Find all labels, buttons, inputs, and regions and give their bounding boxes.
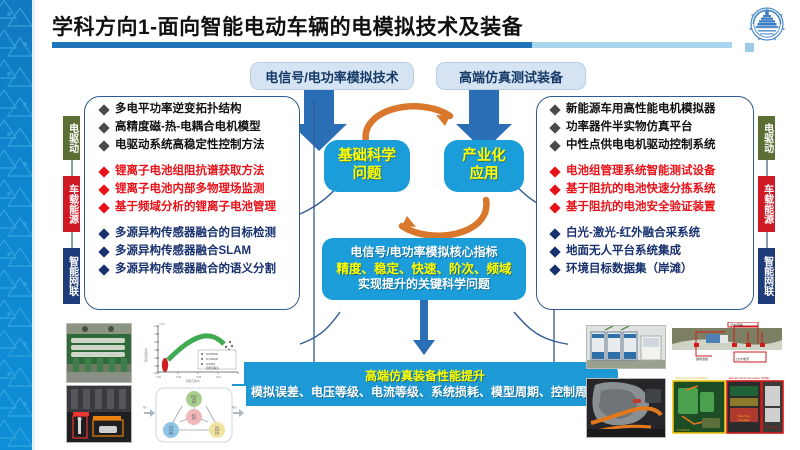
list-item[interactable]: 锂离子电池组阻抗谱获取方法: [100, 163, 276, 180]
svg-text:-0.25: -0.25: [153, 371, 159, 375]
svg-text:阻抗虚部(Ω): 阻抗虚部(Ω): [144, 348, 148, 362]
svg-text:0.00: 0.00: [156, 375, 162, 379]
svg-text:0.04: 0.04: [176, 375, 182, 379]
diamond-bullet-icon: [549, 104, 560, 115]
bullet-text: 电池组管理系统智能测试设备: [566, 163, 716, 180]
bullet-text: 环境目标数据集（岸滩）: [566, 261, 693, 278]
svg-text:Test Bench: Test Bench: [677, 428, 690, 432]
list-item[interactable]: 环境目标数据集（岸滩）: [551, 261, 716, 278]
diamond-bullet-icon: [98, 104, 109, 115]
svg-text:锂电池组: 锂电池组: [696, 356, 708, 361]
diamond-bullet-icon: [549, 264, 560, 275]
callout-electrical-simulation-tech[interactable]: 电信号/电功率模拟技术: [250, 62, 414, 90]
svg-text:过充/短路: 过充/短路: [730, 322, 743, 327]
sidebar-tab-right-connected[interactable]: 智能网联: [758, 248, 775, 304]
sidebar-tab-right-energy[interactable]: 车载能源: [758, 176, 775, 232]
list-item[interactable]: 新能源车用高性能电机模拟器: [551, 101, 716, 118]
svg-text:0.25: 0.25: [154, 356, 160, 360]
diamond-bullet-icon: [549, 202, 560, 213]
sidebar-tab-left-connected[interactable]: 智能网联: [63, 248, 80, 304]
bullet-text: 地面无人平台系统集成: [566, 243, 681, 260]
bullet-text: 多电平功率逆变拓扑结构: [115, 101, 242, 118]
core-box-industrial-application[interactable]: 产业化 应用: [444, 140, 524, 192]
bullet-text: 基于阻抗的电池快速分拣系统: [566, 181, 716, 198]
bullet-text: 功率器件半实物仿真平台: [566, 119, 693, 136]
test-cabinet-rack-photo: [586, 325, 666, 369]
tab-connector-left-2: [71, 230, 73, 250]
svg-text:N=150000: N=150000: [206, 357, 219, 361]
list-item[interactable]: 多源异构传感器融合的目标检测: [100, 225, 276, 242]
slide-canvas: 学科方向1-面向智能电动车辆的电模拟技术及装备: [0, 0, 800, 450]
list-item[interactable]: 多电平功率逆变拓扑结构: [100, 101, 276, 118]
core-metrics-box[interactable]: 电信号/电功率模拟核心指标 精度、稳定、快速、阶次、频域 实现提升的关键科学问题: [322, 238, 526, 300]
list-item[interactable]: 锂离子电池内部多物理场监测: [100, 181, 276, 198]
page-title: 学科方向1-面向智能电动车辆的电模拟技术及装备: [52, 11, 523, 41]
core-box-industrial-line2: 应用: [470, 166, 499, 184]
bullet-text: 多源异构传感器融合的语义分割: [115, 261, 276, 278]
core-box-basic-science-line1: 基础科学: [338, 148, 396, 166]
sidebar-tab-left-energy[interactable]: 车载能源: [63, 176, 80, 232]
impedance-scatter-plot: 1.251.000.75 0.500.250.00 -0.25 0.000.04…: [140, 320, 244, 384]
diamond-bullet-icon: [98, 122, 109, 133]
bullet-text: 锂离子电池组阻抗谱获取方法: [115, 163, 265, 180]
svg-text:0.00: 0.00: [154, 364, 160, 368]
engine-bay-harness-photo: [586, 378, 666, 438]
strip-divider: [32, 0, 35, 450]
group-gap: [100, 155, 276, 163]
list-item[interactable]: 电池组管理系统智能测试设备: [551, 163, 716, 180]
annotated-powertrain-photo: Motor Drive Unit (MDU) Electric Motor Em…: [672, 374, 784, 436]
list-item[interactable]: 电驱动系统高稳定性控制方法: [100, 137, 276, 154]
diamond-bullet-icon: [98, 246, 109, 257]
svg-text:Real-Time: Real-Time: [738, 414, 750, 418]
bullet-text: 新能源车用高性能电机模拟器: [566, 101, 716, 118]
diamond-bullet-icon: [549, 246, 560, 257]
decorative-left-strip: [0, 0, 32, 450]
group-gap: [100, 217, 276, 225]
bullet-text: 基于阻抗的电池安全验证装置: [566, 199, 716, 216]
title-rule-dark: [52, 42, 532, 48]
svg-text:过/欠电流: 过/欠电流: [736, 356, 749, 361]
motor-production-line-photo: [66, 323, 132, 383]
bullet-text: 锂离子电池内部多物理场监测: [115, 181, 265, 198]
svg-text:N=800000: N=800000: [206, 352, 219, 356]
tab-connector-right-1: [766, 158, 768, 178]
list-item[interactable]: 多源异构传感器融合的语义分割: [100, 261, 276, 278]
list-item[interactable]: 多源异构传感器融合SLAM: [100, 243, 276, 260]
svg-text:输入: 输入: [143, 405, 148, 409]
bullet-text: 电驱动系统高稳定性控制方法: [115, 137, 265, 154]
left-panel-bullets: 多电平功率逆变拓扑结构 高精度磁-热-电耦合电机模型 电驱动系统高稳定性控制方法…: [100, 101, 276, 279]
diamond-bullet-icon: [549, 184, 560, 195]
title-rule-light: [532, 42, 732, 48]
core-box-basic-science-line2: 问题: [353, 166, 382, 184]
bullet-text: 白光-激光-红外融合采系统: [566, 225, 700, 242]
svg-text:Electric Motor Emulator (EME): Electric Motor Emulator (EME): [729, 376, 770, 380]
bullet-text: 多源异构传感器融合SLAM: [115, 243, 251, 260]
core-metrics-line1: 电信号/电功率模拟核心指标: [350, 245, 497, 261]
sidebar-tab-right-edrive[interactable]: 电驱动: [758, 116, 775, 160]
svg-text:阻抗选取点: 阻抗选取点: [206, 366, 219, 370]
list-item[interactable]: 高精度磁-热-电耦合电机模型: [100, 119, 276, 136]
bottom-box-line2: 模拟误差、电压等级、电流等级、系统损耗、模型周期、控制周期: [251, 384, 599, 400]
core-metrics-line3: 实现提升的关键科学问题: [358, 277, 490, 293]
pedestrian-detection-photo: [66, 385, 132, 443]
strip-pattern-icon: [0, 0, 32, 450]
diamond-bullet-icon: [549, 228, 560, 239]
svg-text:0.75: 0.75: [154, 340, 160, 344]
right-panel-bullets: 新能源车用高性能电机模拟器 功率器件半实物仿真平台 中性点供电电机驱动控制系统 …: [551, 101, 716, 279]
svg-text:0.08: 0.08: [196, 375, 202, 379]
diamond-bullet-icon: [98, 166, 109, 177]
bullet-text: 基于频域分析的锂离子电池管理: [115, 199, 276, 216]
svg-text:1.00: 1.00: [154, 332, 160, 336]
tab-connector-right-2: [766, 230, 768, 250]
fusion-node-diagram: 感知与决策模型 融合算法 多源异构数据 目标检测结果 输入输出: [142, 386, 246, 444]
group-gap: [551, 217, 716, 225]
list-item[interactable]: 功率器件半实物仿真平台: [551, 119, 716, 136]
diamond-bullet-icon: [549, 122, 560, 133]
diamond-bullet-icon: [98, 202, 109, 213]
bottom-box-line1: 高端仿真装备性能提升: [365, 368, 485, 384]
core-metrics-line2: 精度、稳定、快速、阶次、频域: [336, 261, 511, 277]
diamond-bullet-icon: [98, 140, 109, 151]
svg-text:0.50: 0.50: [154, 348, 160, 352]
core-box-industrial-line1: 产业化: [462, 148, 506, 166]
diamond-bullet-icon: [549, 166, 560, 177]
diamond-bullet-icon: [98, 228, 109, 239]
down-arrow-to-bottom-icon: [412, 300, 436, 356]
svg-text:N=8000: N=8000: [206, 362, 216, 366]
callout-high-end-simulation-equipment[interactable]: 高端仿真测试装备: [436, 62, 586, 90]
diamond-bullet-icon: [98, 264, 109, 275]
list-item[interactable]: 基于阻抗的电池安全验证装置: [551, 199, 716, 216]
bullet-text: 高精度磁-热-电耦合电机模型: [115, 119, 261, 136]
list-item[interactable]: 地面无人平台系统集成: [551, 243, 716, 260]
tab-connector-left-1: [71, 158, 73, 178]
svg-text:×10⁻³: ×10⁻³: [159, 322, 166, 326]
university-emblem-icon: [744, 3, 790, 47]
diamond-bullet-icon: [549, 140, 560, 151]
svg-text:0.12: 0.12: [216, 375, 222, 379]
list-item[interactable]: 白光-激光-红外融合采系统: [551, 225, 716, 242]
svg-text:Motor Drive Unit (MDU): Motor Drive Unit (MDU): [676, 376, 707, 380]
svg-text:阻抗实部(Ω): 阻抗实部(Ω): [186, 379, 200, 383]
core-box-basic-science[interactable]: 基础科学 问题: [324, 140, 410, 192]
svg-text:Simulator: Simulator: [739, 418, 750, 422]
diamond-bullet-icon: [98, 184, 109, 195]
list-item[interactable]: 中性点供电电机驱动控制系统: [551, 137, 716, 154]
list-item[interactable]: 基于频域分析的锂离子电池管理: [100, 199, 276, 216]
vehicle-wiring-schematic: 过充/短路 锂电池组 过/欠电流: [672, 322, 782, 370]
bullet-text: 中性点供电电机驱动控制系统: [566, 137, 716, 154]
sidebar-tab-left-edrive[interactable]: 电驱动: [63, 116, 80, 160]
svg-text:输出: 输出: [232, 405, 237, 409]
svg-text:Power Stage: Power Stage: [765, 426, 779, 429]
group-gap: [551, 155, 716, 163]
list-item[interactable]: 基于阻抗的电池快速分拣系统: [551, 181, 716, 198]
bullet-text: 多源异构传感器融合的目标检测: [115, 225, 276, 242]
bottom-performance-box[interactable]: 高端仿真装备性能提升 模拟误差、电压等级、电流等级、系统损耗、模型周期、控制周期: [232, 362, 618, 406]
